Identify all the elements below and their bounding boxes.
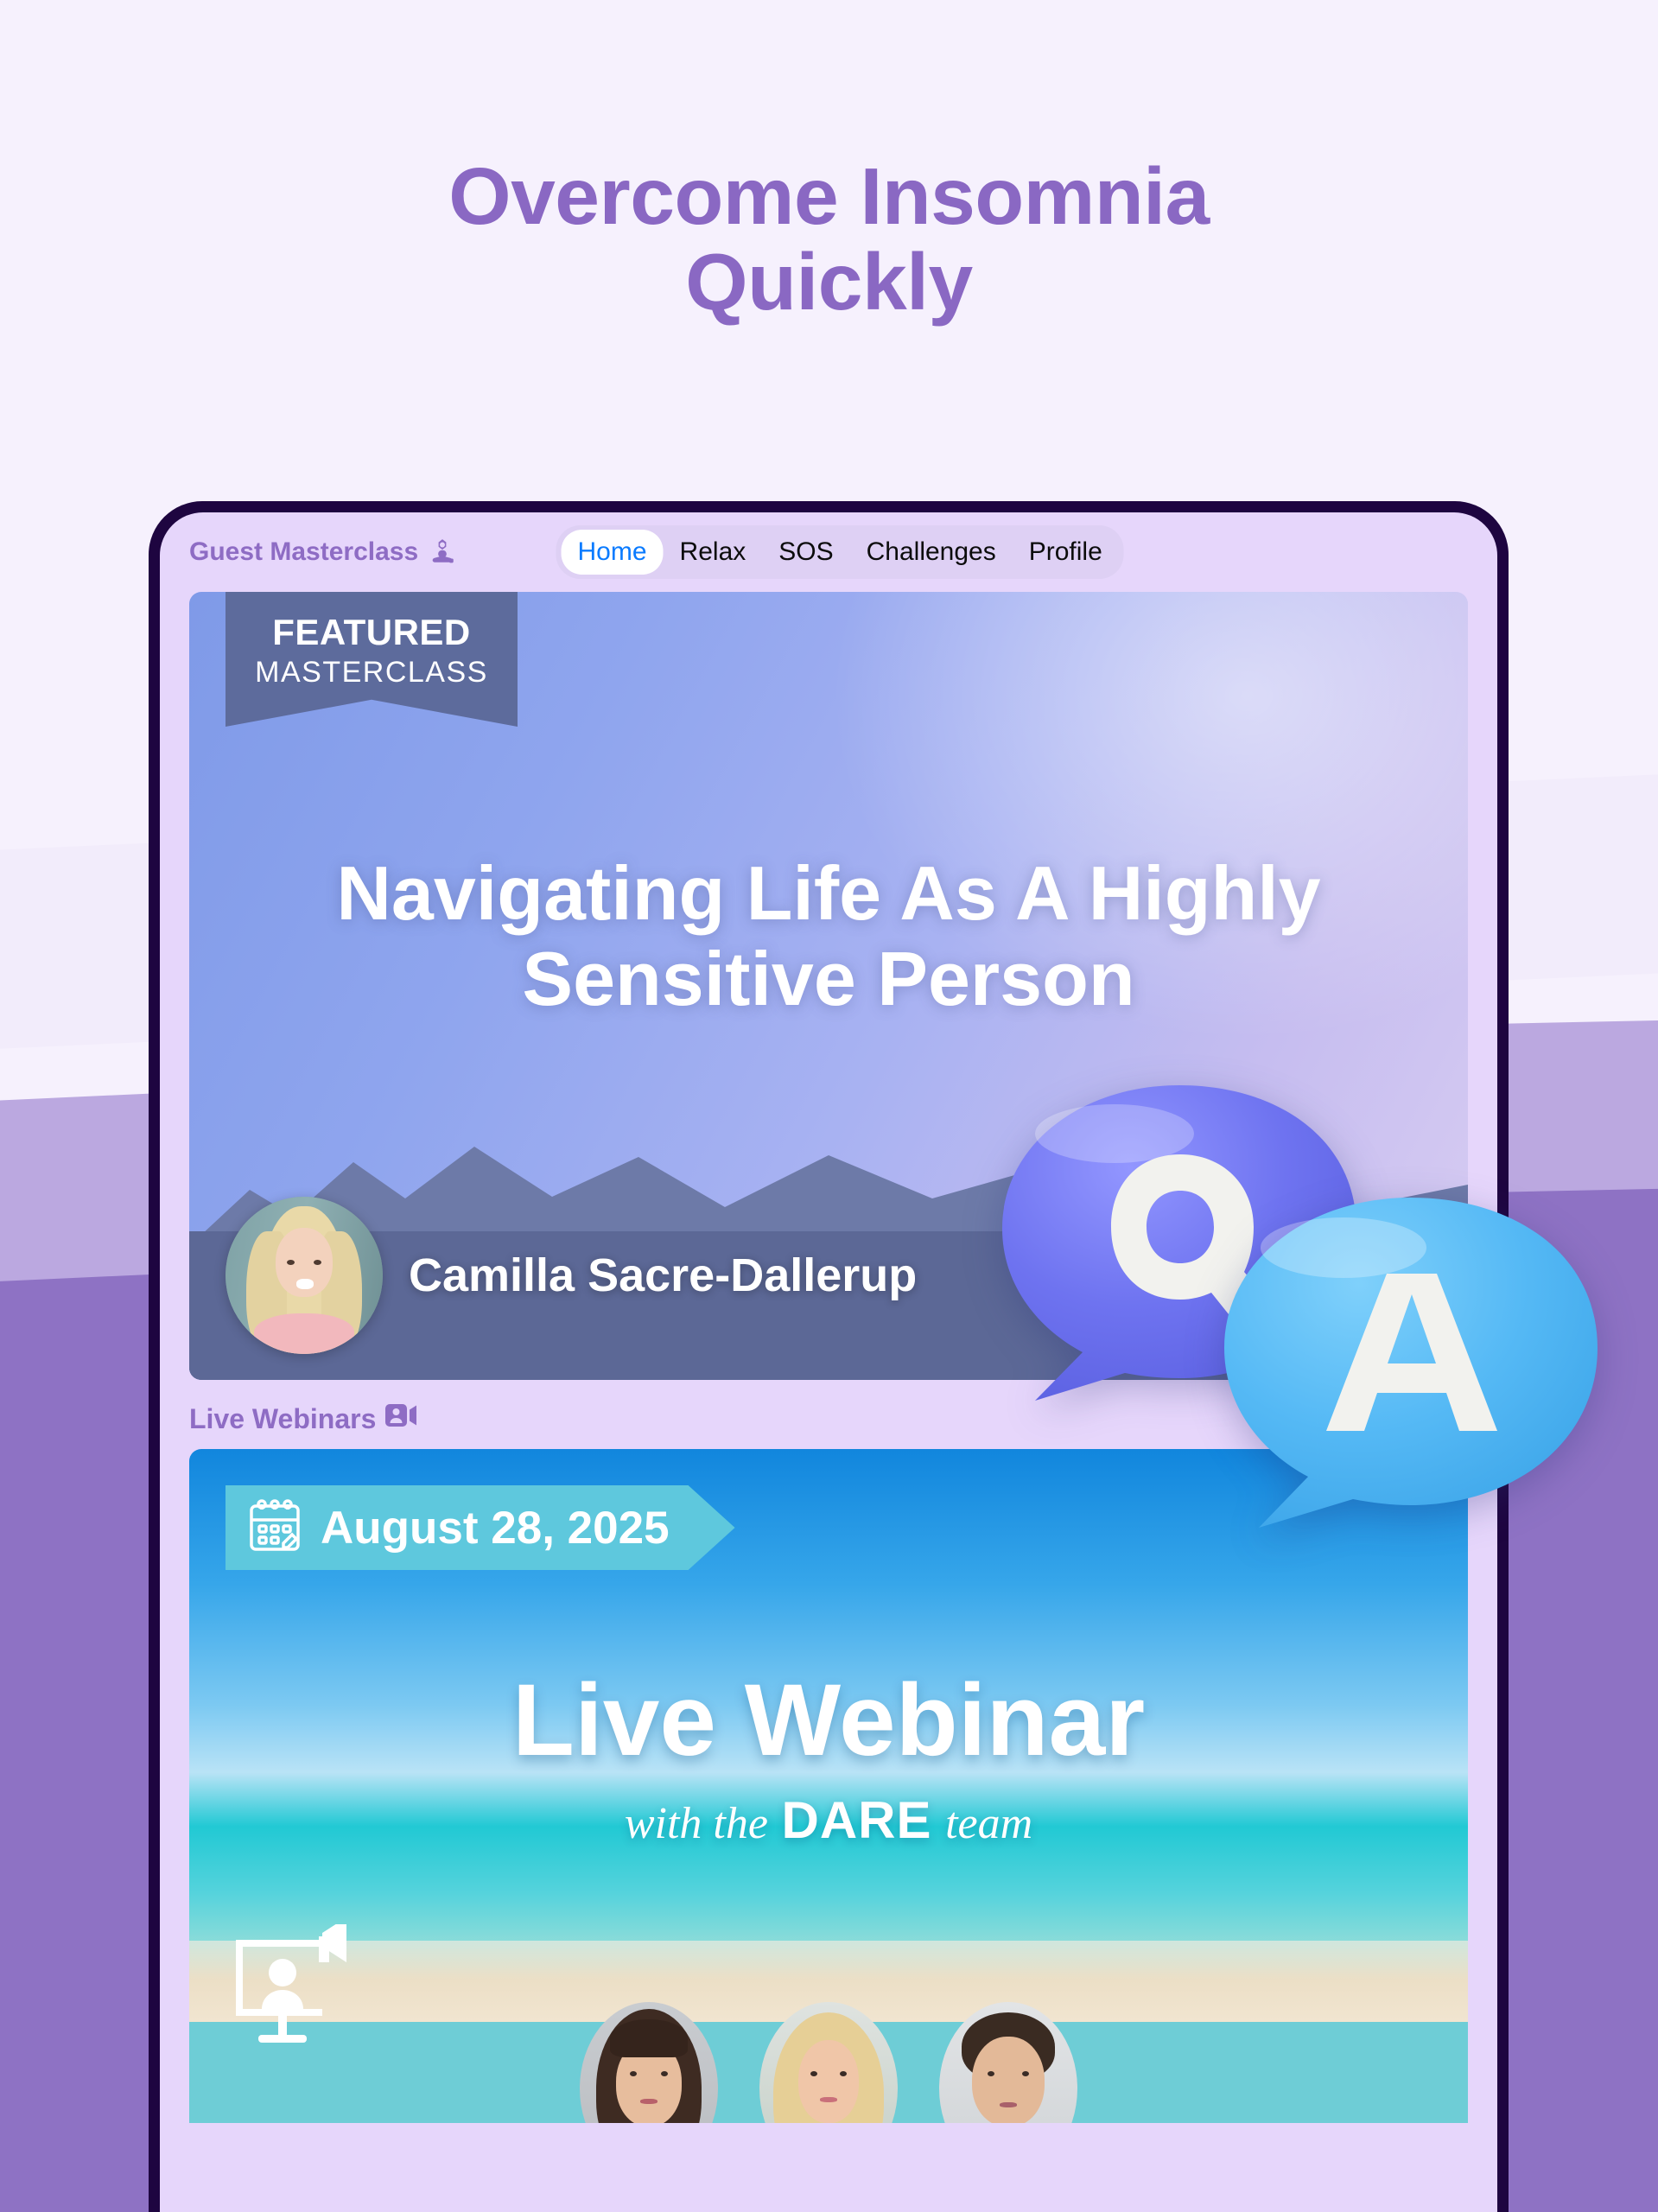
ribbon-masterclass-label: MASTERCLASS (226, 658, 518, 687)
page-headline: Overcome Insomnia Quickly (0, 154, 1658, 324)
section-label-text: Live Webinars (189, 1403, 376, 1435)
calendar-icon (248, 1497, 302, 1559)
avatar (226, 1197, 383, 1354)
tab-profile[interactable]: Profile (1013, 530, 1119, 575)
tab-relax[interactable]: Relax (664, 530, 763, 575)
featured-ribbon: FEATURED MASTERCLASS (226, 592, 518, 727)
headline-line-2: Quickly (685, 237, 973, 327)
webinar-subtitle-brand: DARE (782, 1791, 932, 1849)
ribbon-featured-label: FEATURED (226, 614, 518, 651)
speaker-name: Camilla Sacre-Dallerup (409, 1249, 917, 1302)
brand: Guest Masterclass (189, 537, 457, 567)
webinar-title: Live Webinar (189, 1669, 1468, 1771)
live-webinar-card[interactable]: August 28, 2025 Live Webinar with the DA… (189, 1449, 1468, 2123)
avatar (580, 2002, 718, 2123)
webinar-subtitle-post: team (945, 1799, 1032, 1848)
webinar-date: August 28, 2025 (321, 1502, 670, 1554)
answer-bubble (1214, 1191, 1607, 1536)
headline-line-1: Overcome Insomnia (448, 151, 1210, 241)
tab-sos[interactable]: SOS (762, 530, 849, 575)
tab-home[interactable]: Home (562, 530, 664, 575)
featured-speaker: Camilla Sacre-Dallerup (226, 1197, 917, 1354)
avatar (759, 2002, 898, 2123)
featured-title: Navigating Life As A Highly Sensitive Pe… (189, 851, 1468, 1021)
app-top-bar: Guest Masterclass Home Relax SOS Challen… (160, 512, 1497, 592)
presenter-avatars (189, 2002, 1468, 2123)
brand-label: Guest Masterclass (189, 537, 418, 567)
webinar-subtitle: with the DARE team (189, 1795, 1468, 1847)
tab-challenges[interactable]: Challenges (850, 530, 1013, 575)
video-person-icon (385, 1402, 416, 1435)
main-nav[interactable]: Home Relax SOS Challenges Profile (556, 525, 1124, 579)
avatar (939, 2002, 1077, 2123)
meditation-lotus-icon (428, 537, 457, 567)
webinar-date-chip: August 28, 2025 (226, 1485, 735, 1570)
webinar-subtitle-pre: with the (625, 1799, 768, 1848)
